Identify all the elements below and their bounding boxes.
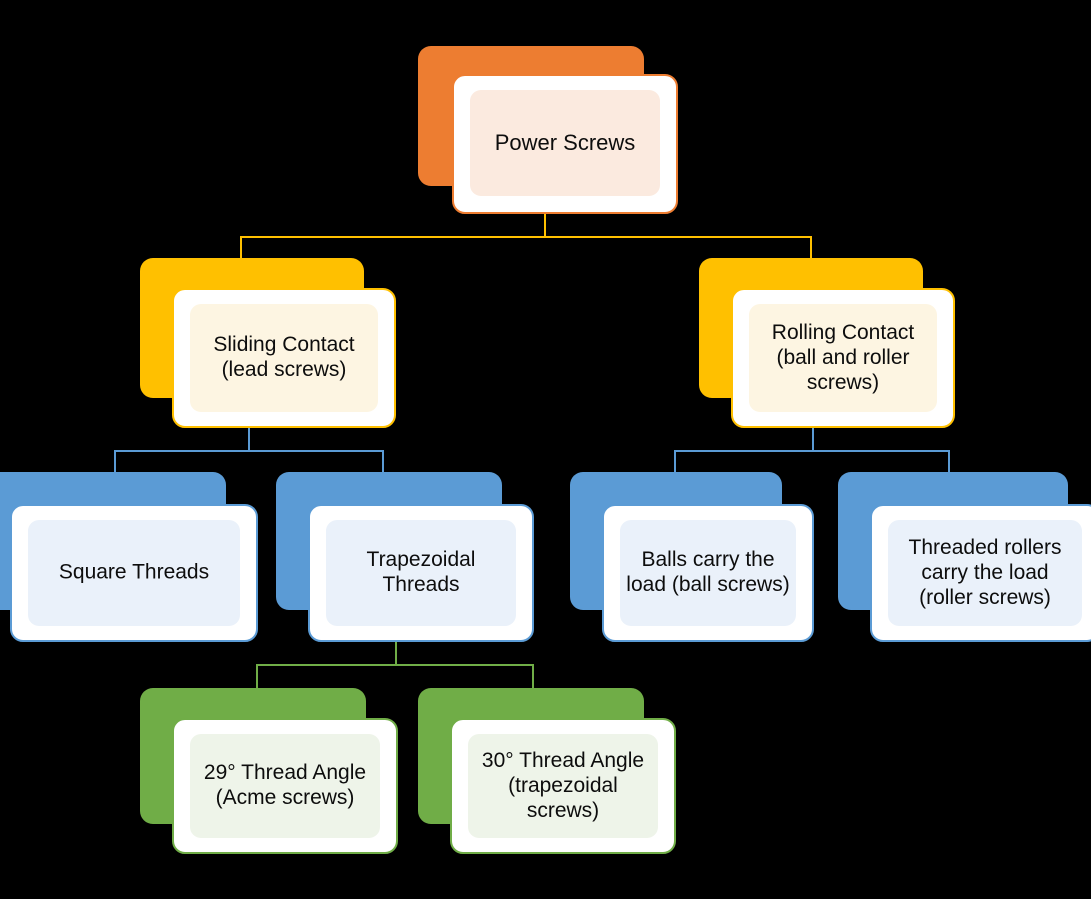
connector-trapezoidal-to-acme — [256, 664, 258, 688]
node-inner-panel — [28, 520, 240, 626]
diagram-canvas: Power Screws Sliding Contact (lead screw… — [0, 0, 1091, 899]
node-power-screws[interactable]: Power Screws — [418, 46, 678, 214]
connector-trapezoidal-to-trap — [532, 664, 534, 688]
node-inner-panel — [326, 520, 516, 626]
node-roller-screws[interactable]: Threaded rollers carry the load (roller … — [838, 472, 1091, 642]
node-inner-panel — [470, 90, 660, 196]
node-inner-panel — [468, 734, 658, 838]
connector-trapezoidal-bus — [256, 664, 534, 666]
node-inner-panel — [190, 304, 378, 412]
node-trapezoidal-threads[interactable]: Trapezoidal Threads — [276, 472, 534, 642]
node-inner-panel — [620, 520, 796, 626]
node-trapezoidal-screws[interactable]: 30° Thread Angle (trapezoidal screws) — [418, 688, 676, 854]
node-inner-panel — [190, 734, 380, 838]
connector-root-bus — [240, 236, 812, 238]
node-ball-screws[interactable]: Balls carry the load (ball screws) — [570, 472, 814, 642]
connector-trapezoidal-stem — [395, 638, 397, 666]
connector-root-stem — [544, 210, 546, 238]
node-rolling-contact[interactable]: Rolling Contact (ball and roller screws) — [699, 258, 955, 428]
node-inner-panel — [888, 520, 1082, 626]
connector-rolling-stem — [812, 424, 814, 452]
connector-sliding-bus — [114, 450, 384, 452]
node-sliding-contact[interactable]: Sliding Contact (lead screws) — [140, 258, 396, 428]
connector-sliding-stem — [248, 424, 250, 452]
connector-rolling-bus — [674, 450, 950, 452]
node-inner-panel — [749, 304, 937, 412]
node-acme-screws[interactable]: 29° Thread Angle (Acme screws) — [140, 688, 398, 854]
node-square-threads[interactable]: Square Threads — [0, 472, 258, 642]
